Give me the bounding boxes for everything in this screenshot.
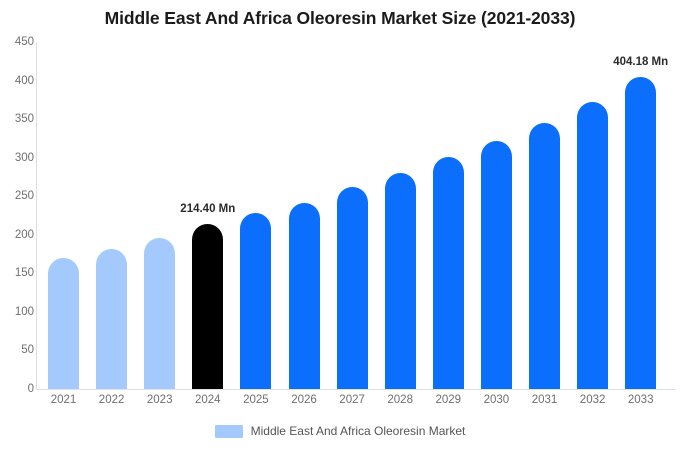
x-axis-tick-label: 2022 (87, 394, 137, 406)
x-axis-tick-label: 2024 (183, 394, 233, 406)
y-axis-tick-label: 150 (0, 267, 34, 279)
x-axis-tick-label: 2023 (135, 394, 185, 406)
chart-container: Middle East And Africa Oleoresin Market … (0, 0, 680, 450)
x-axis-tick-label: 2033 (616, 394, 666, 406)
bar-2025[interactable] (240, 213, 271, 389)
bar-2023[interactable] (144, 238, 175, 389)
bar-2021[interactable] (48, 258, 79, 389)
y-axis-tick-label: 50 (0, 344, 34, 356)
legend-swatch (215, 425, 243, 438)
y-axis-tick-label: 350 (0, 113, 34, 125)
y-axis-tick-label: 400 (0, 75, 34, 87)
y-axis-tick-label: 450 (0, 36, 34, 48)
chart-legend: Middle East And Africa Oleoresin Market (0, 424, 680, 438)
y-axis-tick-label: 300 (0, 152, 34, 164)
x-axis-line (36, 389, 676, 390)
y-axis-tick-label: 200 (0, 229, 34, 241)
x-axis-tick-label: 2030 (471, 394, 521, 406)
bar-2033[interactable] (625, 77, 656, 389)
x-axis-tick-label: 2021 (39, 394, 89, 406)
chart-title: Middle East And Africa Oleoresin Market … (0, 8, 680, 29)
plot-area: 050100150200250300350400450 (36, 42, 680, 389)
bar-2028[interactable] (385, 173, 416, 389)
bar-2024[interactable] (192, 224, 223, 389)
x-axis-tick-label: 2029 (423, 394, 473, 406)
legend-label: Middle East And Africa Oleoresin Market (251, 424, 466, 438)
x-axis-tick-label: 2032 (568, 394, 618, 406)
y-axis-tick-label: 100 (0, 306, 34, 318)
value-label-2033: 404.18 Mn (605, 56, 677, 68)
x-axis-tick-label: 2025 (231, 394, 281, 406)
value-label-2024: 214.40 Mn (172, 203, 244, 215)
x-axis-tick-label: 2026 (279, 394, 329, 406)
x-axis-tick-label: 2027 (327, 394, 377, 406)
bar-2029[interactable] (433, 157, 464, 389)
y-axis-tick-label: 250 (0, 190, 34, 202)
bar-2031[interactable] (529, 123, 560, 389)
bar-2022[interactable] (96, 249, 127, 389)
bar-2026[interactable] (289, 203, 320, 389)
x-axis-tick-label: 2028 (375, 394, 425, 406)
x-axis-tick-label: 2031 (520, 394, 570, 406)
y-axis-tick-label: 0 (0, 383, 34, 395)
bar-2030[interactable] (481, 141, 512, 389)
bar-2027[interactable] (337, 187, 368, 389)
bar-2032[interactable] (577, 102, 608, 389)
